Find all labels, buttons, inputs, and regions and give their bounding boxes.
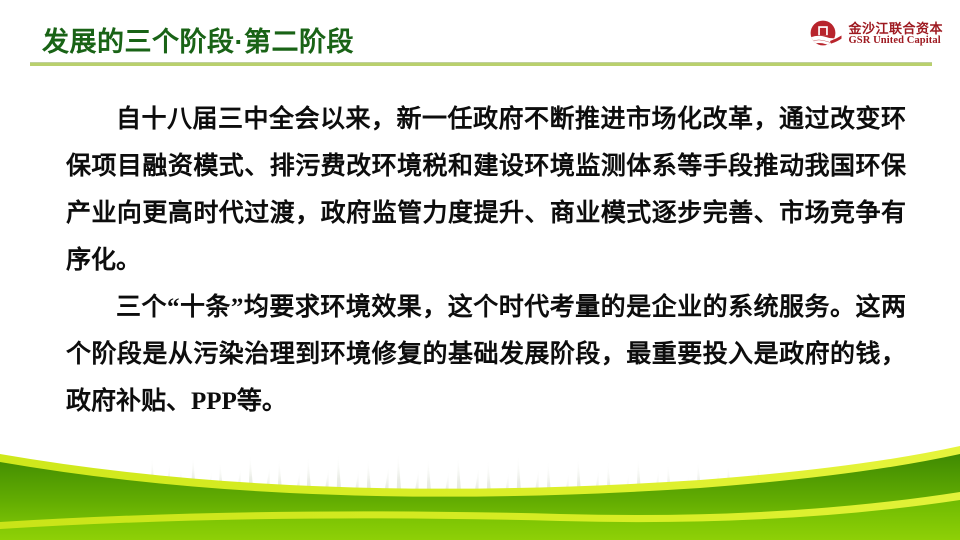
title-divider — [30, 63, 932, 66]
company-emblem-icon — [808, 19, 842, 49]
body-paragraph-2: 三个“十条”均要求环境效果，这个时代考量的是企业的系统服务。这两个阶段是从污染治… — [66, 284, 906, 425]
page-title: 发展的三个阶段·第二阶段 — [42, 20, 354, 59]
logo: 金沙江联合资本 GSR United Capital — [808, 19, 943, 49]
slide-header: 发展的三个阶段·第二阶段 — [0, 0, 960, 72]
body-paragraph-1: 自十八届三中全会以来，新一任政府不断推进市场化改革，通过改变环保项目融资模式、排… — [66, 96, 906, 284]
logo-text: 金沙江联合资本 GSR United Capital — [848, 22, 943, 47]
footer-decoration — [0, 410, 960, 540]
logo-name-en: GSR United Capital — [848, 35, 943, 46]
slide: 发展的三个阶段·第二阶段 — [0, 0, 960, 540]
logo-name-cn: 金沙江联合资本 — [848, 22, 943, 36]
slide-body: 自十八届三中全会以来，新一任政府不断推进市场化改革，通过改变环保项目融资模式、排… — [66, 96, 906, 425]
